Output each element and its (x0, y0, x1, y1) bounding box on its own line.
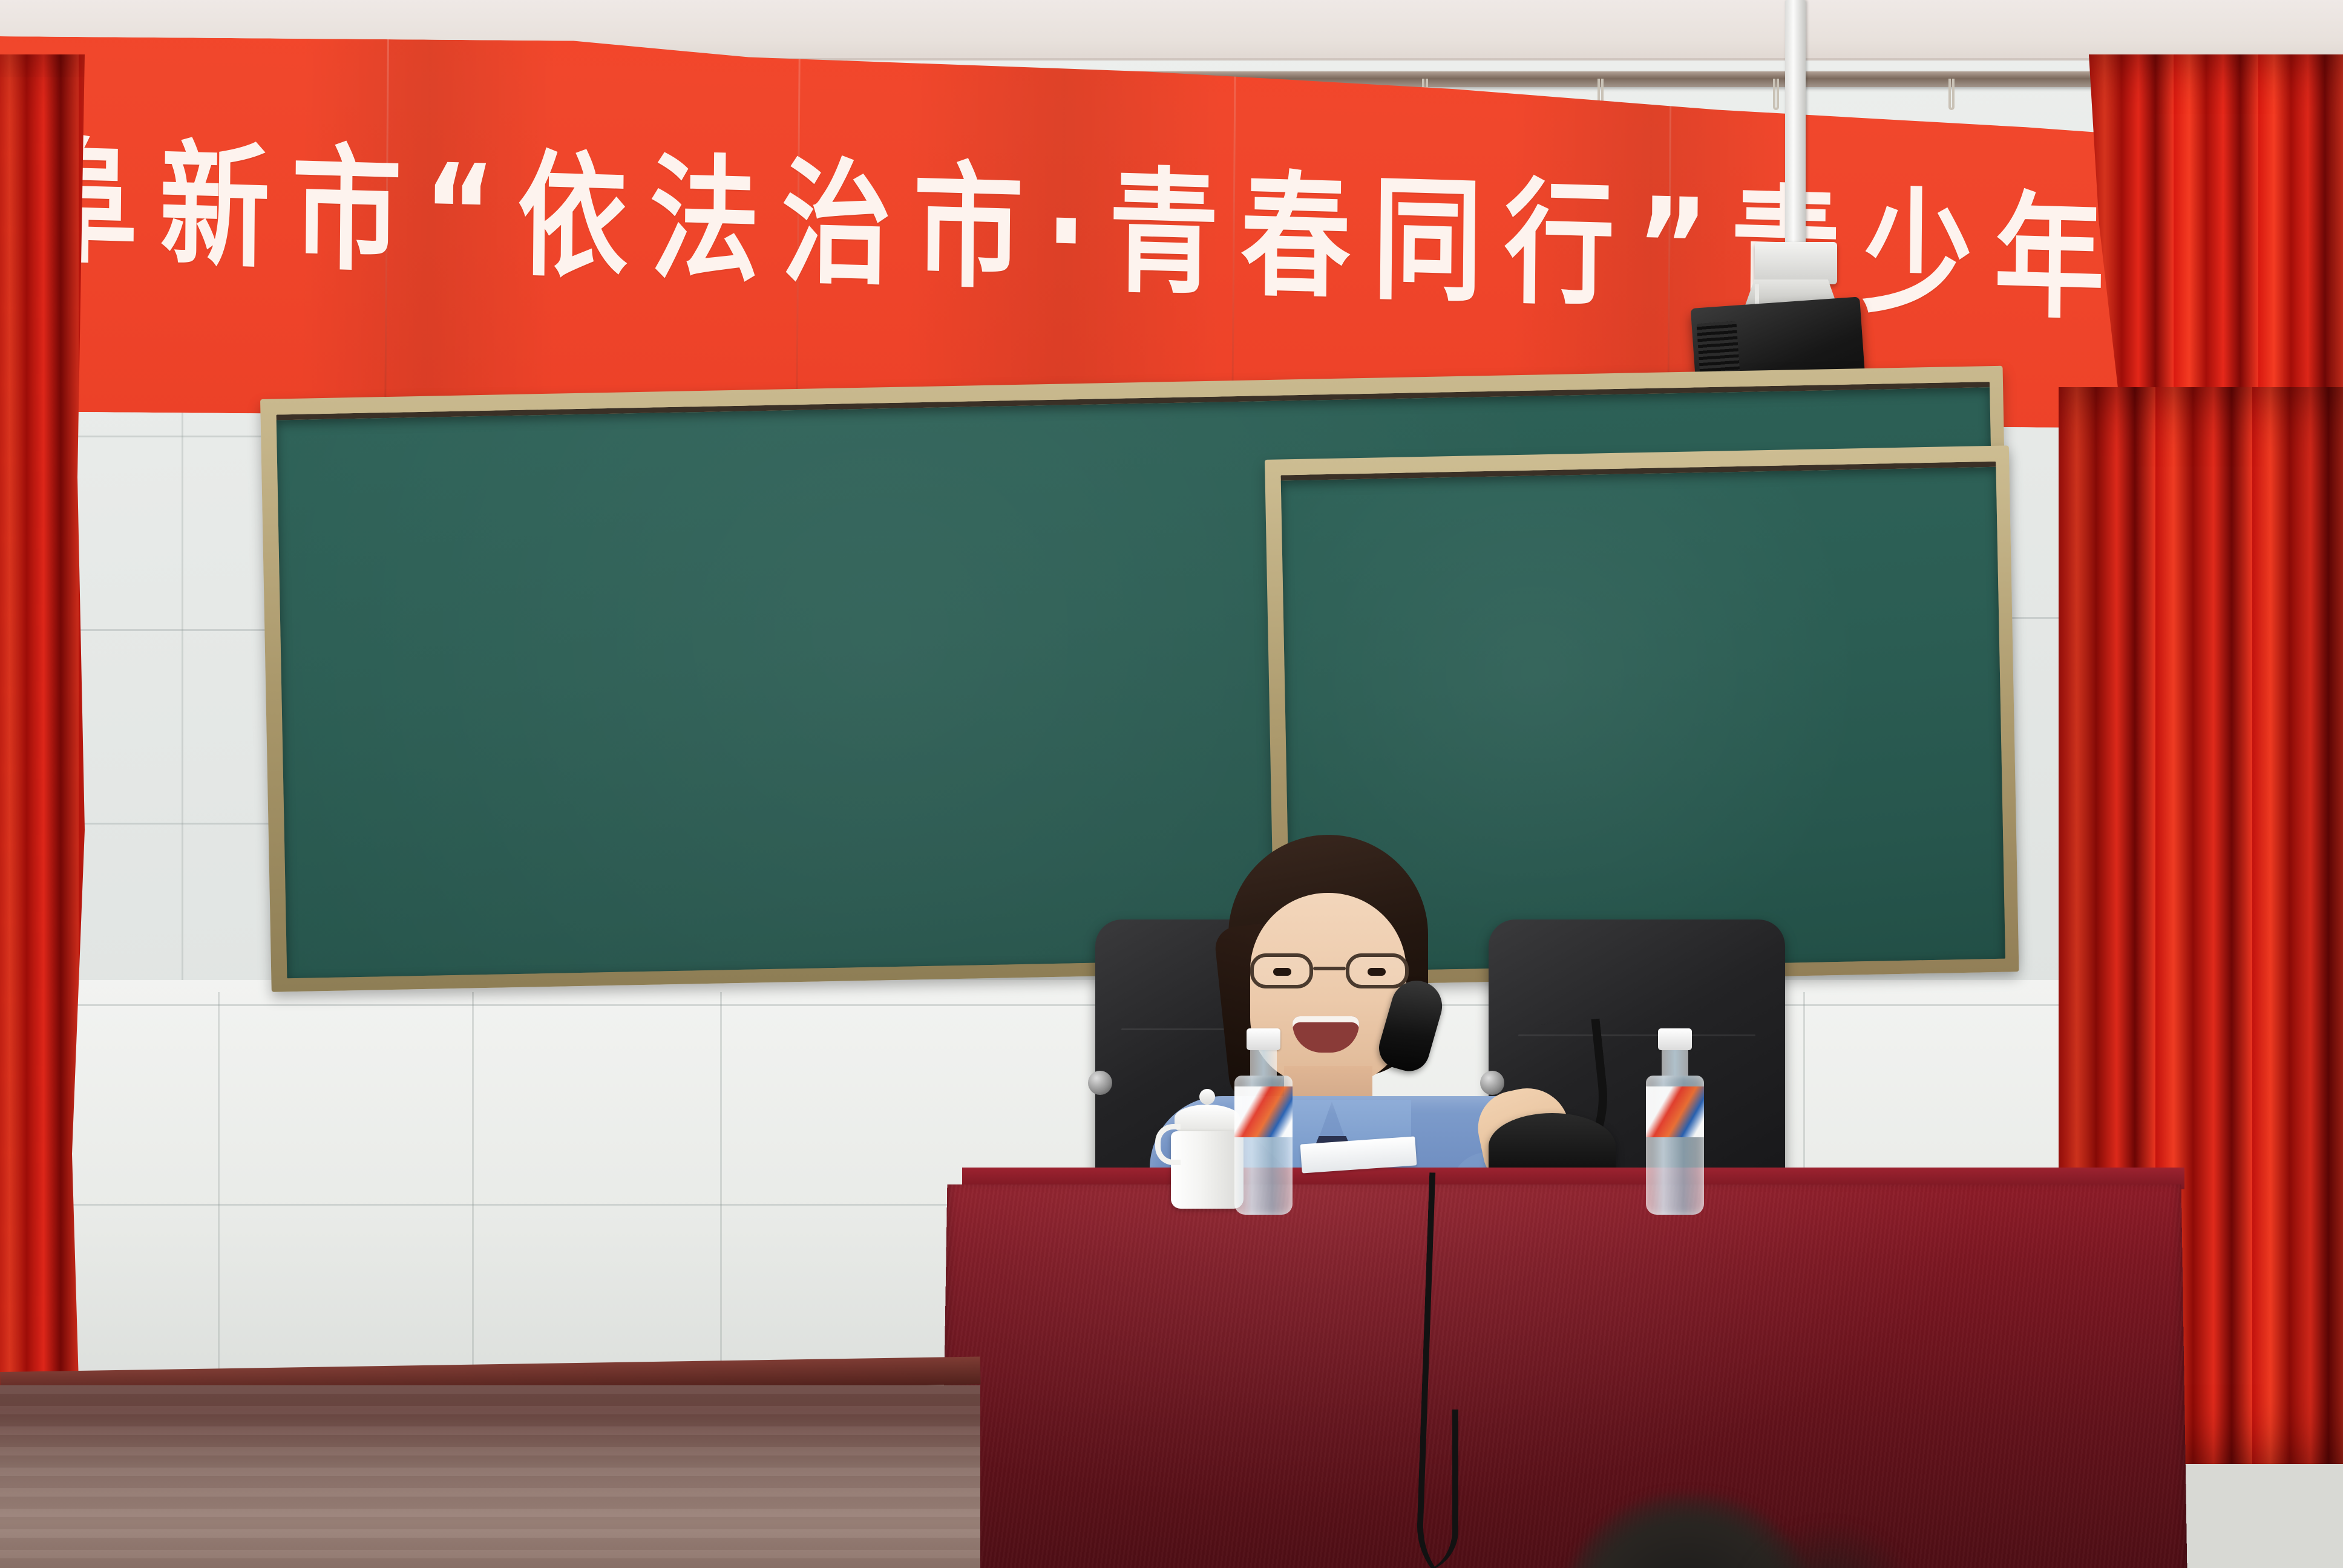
lidded-teacup (1171, 1089, 1244, 1192)
wall-tile-seam (472, 992, 474, 1391)
bottle-body (1234, 1076, 1293, 1215)
glasses-icon (1250, 953, 1409, 988)
wall-tile-seam (182, 387, 183, 992)
bottle-neck (1662, 1050, 1688, 1076)
photo-scene: 阜新市“依法治市·青春同行”青少年法制宣传月活动 (0, 0, 2343, 1568)
microphone-cable (1410, 1410, 1458, 1568)
left-stage-curtain (0, 54, 85, 1464)
head-table-skirt (941, 1184, 2188, 1568)
banner-hook-icon (1773, 79, 1779, 110)
floor-reflection (0, 1385, 980, 1568)
bottle-cap (1247, 1028, 1280, 1050)
water-bottle-right (1646, 1028, 1704, 1215)
bottle-label (1646, 1086, 1704, 1137)
teacup-lid-knob (1199, 1089, 1215, 1105)
wall-tile-seam (0, 1204, 980, 1206)
wall-tile-seam (218, 992, 220, 1391)
glasses-bridge (1313, 967, 1346, 970)
projector-mount-bracket (1755, 242, 1837, 284)
projector-mount-pole (1785, 0, 1806, 254)
teacup-body (1171, 1131, 1244, 1209)
water-bottle-left (1234, 1028, 1293, 1215)
glasses-lens (1346, 953, 1409, 988)
wall-tile-seam (720, 992, 722, 1391)
chair-adjust-knob (1088, 1071, 1112, 1095)
speaker-eye (1368, 968, 1386, 976)
bottle-neck (1250, 1050, 1277, 1076)
glasses-lens (1250, 953, 1313, 988)
bottle-label (1234, 1086, 1293, 1137)
wall-tile-seam (1803, 992, 1805, 1174)
bottle-cap (1658, 1028, 1692, 1050)
banner-hook-icon (1948, 79, 1955, 110)
teacup-lid (1175, 1105, 1240, 1131)
stage-floor (0, 1385, 980, 1568)
bottle-body (1646, 1076, 1704, 1215)
table-skirt-texture (941, 1184, 2188, 1568)
speaker-eye (1273, 968, 1291, 976)
